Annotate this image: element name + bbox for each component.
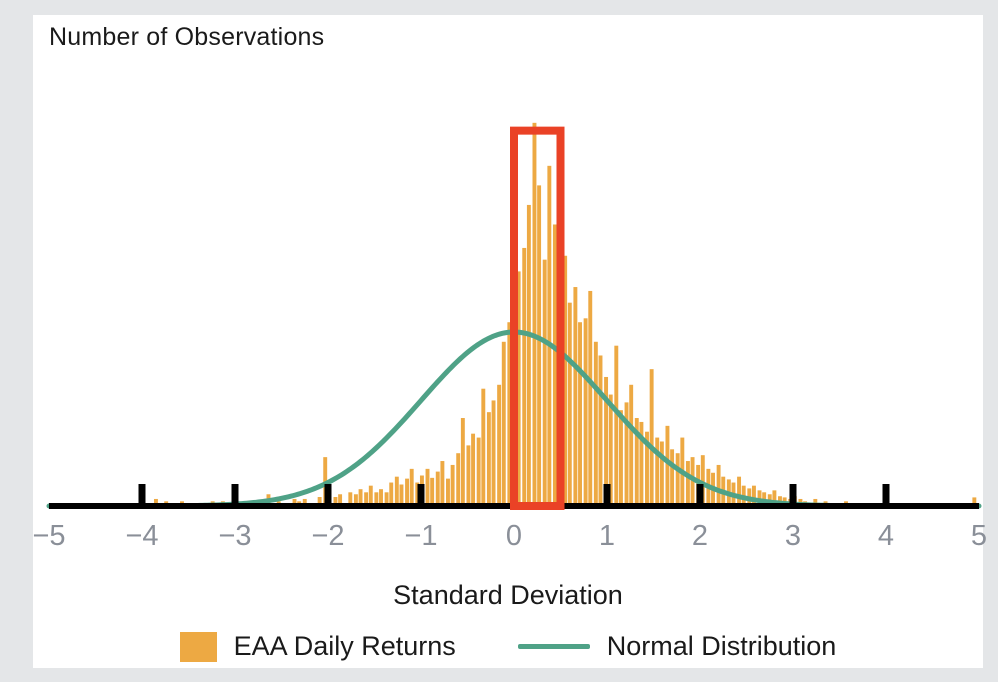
histogram-bar	[492, 400, 496, 506]
chart-svg	[33, 15, 983, 668]
x-axis-title: Standard Deviation	[33, 580, 983, 611]
x-axis-tick-label: 3	[785, 520, 801, 553]
legend-item-eaa-daily-returns: EAA Daily Returns	[180, 631, 456, 662]
histogram-bar	[619, 410, 623, 506]
chart-card: Number of Observations −5−4−3−2−1012345 …	[33, 15, 983, 668]
histogram-bar	[477, 438, 481, 506]
histogram-bar	[737, 477, 741, 506]
histogram-bar	[568, 303, 572, 506]
histogram-bar	[481, 389, 485, 506]
histogram-bar	[487, 412, 491, 506]
histogram-bar	[436, 472, 440, 506]
histogram-bar	[430, 478, 434, 506]
histogram-bar	[389, 483, 393, 506]
x-axis-tick-label: −5	[32, 520, 65, 553]
histogram-bar	[440, 461, 444, 506]
histogram-bar	[400, 485, 404, 507]
histogram-bar	[655, 438, 659, 506]
legend-label: EAA Daily Returns	[234, 631, 456, 662]
histogram-bar	[522, 248, 526, 506]
x-axis-tick-label: −4	[125, 520, 158, 553]
x-axis-tick-label: −1	[404, 520, 437, 553]
histogram-bar	[527, 205, 531, 506]
plot-area	[33, 15, 983, 668]
histogram-bar	[410, 469, 414, 506]
histogram-bar	[686, 461, 690, 506]
histogram-bar	[497, 385, 501, 506]
histogram-bar	[650, 369, 654, 506]
histogram-bar	[629, 385, 633, 506]
histogram-bar	[395, 477, 399, 506]
histogram-bar	[547, 166, 551, 506]
histogram-bar	[533, 123, 537, 506]
chart-legend: EAA Daily Returns Normal Distribution	[33, 631, 983, 662]
histogram-bar	[594, 342, 598, 506]
x-axis-tick-label: 0	[506, 520, 522, 553]
histogram-bar	[405, 479, 409, 506]
histogram-bar	[752, 486, 756, 506]
legend-line-swatch	[518, 644, 590, 649]
x-axis-tick-label: 5	[971, 520, 987, 553]
x-axis-tick-labels: −5−4−3−2−1012345	[33, 520, 983, 566]
histogram-bar	[660, 441, 664, 506]
histogram-bars	[154, 123, 976, 506]
x-axis-tick-label: 4	[878, 520, 894, 553]
histogram-bar	[676, 453, 680, 506]
histogram-bar	[584, 318, 588, 506]
histogram-bar	[614, 346, 618, 506]
histogram-bar	[543, 260, 547, 506]
histogram-bar	[599, 355, 603, 506]
histogram-bar	[537, 185, 541, 506]
x-axis-tick-label: 2	[692, 520, 708, 553]
x-axis-tick-label: 1	[599, 520, 615, 553]
histogram-bar	[471, 434, 475, 506]
histogram-bar	[369, 486, 373, 506]
histogram-bar	[461, 418, 465, 506]
histogram-bar	[665, 426, 669, 506]
histogram-bar	[553, 224, 557, 506]
histogram-bar	[446, 479, 450, 506]
legend-color-swatch	[180, 632, 217, 662]
histogram-bar	[451, 465, 455, 506]
histogram-bar	[456, 453, 460, 506]
legend-item-normal-distribution: Normal Distribution	[518, 631, 837, 662]
histogram-bar	[426, 469, 430, 506]
histogram-bar	[573, 287, 577, 506]
histogram-bar	[717, 465, 721, 506]
legend-label: Normal Distribution	[607, 631, 837, 662]
x-axis-tick-label: −3	[218, 520, 251, 553]
histogram-bar	[502, 342, 506, 506]
x-axis-tick-label: −2	[311, 520, 344, 553]
histogram-bar	[466, 445, 470, 506]
histogram-bar	[578, 322, 582, 506]
histogram-bar	[670, 449, 674, 506]
histogram-bar	[588, 291, 592, 506]
